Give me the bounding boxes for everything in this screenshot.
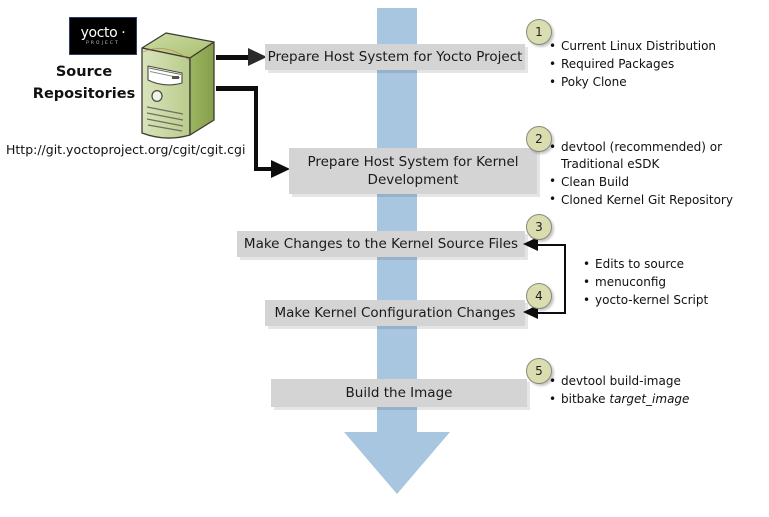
bullet-item: bitbake target_image — [549, 391, 764, 408]
bullet-item: menuconfig — [583, 274, 763, 291]
step-2-bullets: devtool (recommended) or Traditional eSD… — [549, 139, 764, 210]
source-label-line2: Repositories — [24, 84, 144, 106]
step-box-2[interactable]: Prepare Host System for Kernel Developme… — [289, 148, 537, 194]
server-icon — [136, 30, 216, 142]
bullet-item: yocto-kernel Script — [583, 292, 763, 309]
bullet-list-1: Current Linux DistributionRequired Packa… — [549, 38, 764, 91]
step-box-1[interactable]: Prepare Host System for Yocto Project — [265, 44, 525, 70]
feedback-bracket-bottom — [536, 312, 564, 314]
bullet-text: Cloned Kernel Git Repository — [561, 193, 733, 207]
step-3-4-bullets: Edits to sourcemenuconfigyocto-kernel Sc… — [583, 256, 763, 310]
bullet-text: menuconfig — [595, 275, 666, 289]
bullet-item: Edits to source — [583, 256, 763, 273]
flow-arrow-head — [344, 432, 450, 494]
step-box-3[interactable]: Make Changes to the Kernel Source Files — [237, 231, 525, 257]
bullet-item: devtool (recommended) or Traditional eSD… — [549, 139, 764, 172]
bullet-item: Required Packages — [549, 56, 764, 73]
logo-subtext: PROJECT — [86, 42, 120, 46]
feedback-bracket-vertical — [564, 244, 566, 314]
step-number-4: 4 — [526, 283, 552, 309]
step-1-bullets: Current Linux DistributionRequired Packa… — [549, 38, 764, 92]
step-box-5[interactable]: Build the Image — [271, 379, 527, 407]
source-repositories-label: Source Repositories — [24, 62, 144, 106]
flow-arrow-shaft — [377, 8, 417, 432]
bullet-text: devtool (recommended) or Traditional eSD… — [561, 140, 722, 171]
bullet-text: Edits to source — [595, 257, 684, 271]
step-5-bullets: devtool build-imagebitbake target_image — [549, 373, 764, 409]
bullet-list-5: devtool build-imagebitbake target_image — [549, 373, 764, 408]
bullet-text: bitbake — [561, 392, 609, 406]
step-box-4[interactable]: Make Kernel Configuration Changes — [265, 300, 525, 326]
step-number-2: 2 — [526, 126, 552, 152]
bullet-text: Required Packages — [561, 57, 674, 71]
source-repository-url: Http://git.yoctoproject.org/cgit/cgit.cg… — [6, 142, 236, 157]
arrowhead-to-step2 — [271, 160, 290, 178]
connector-server-to-step1 — [216, 55, 250, 60]
yocto-project-logo: yocto · PROJECT — [69, 17, 137, 55]
source-label-line1: Source — [24, 62, 144, 84]
bullet-item: devtool build-image — [549, 373, 764, 390]
bullet-text: devtool build-image — [561, 374, 681, 388]
bullet-text-emphasis: target_image — [609, 392, 689, 406]
bullet-list-2: devtool (recommended) or Traditional eSD… — [549, 139, 764, 208]
logo-wordmark: yocto · — [81, 26, 126, 40]
connector-server-to-step2-horizontal — [216, 86, 258, 91]
bullet-text: Current Linux Distribution — [561, 39, 716, 53]
step-number-1: 1 — [526, 19, 552, 45]
bullet-item: Current Linux Distribution — [549, 38, 764, 55]
bullet-item: Cloned Kernel Git Repository — [549, 192, 764, 209]
connector-server-to-step2-vertical — [254, 86, 259, 171]
bullet-text: Clean Build — [561, 175, 629, 189]
bullet-item: Poky Clone — [549, 74, 764, 91]
bullet-list-3-4: Edits to sourcemenuconfigyocto-kernel Sc… — [583, 256, 763, 309]
step-number-3: 3 — [526, 214, 552, 240]
diagram-canvas: yocto · PROJECT Source Repositories Http… — [0, 0, 769, 517]
step-number-5: 5 — [526, 358, 552, 384]
feedback-bracket-top — [536, 244, 564, 246]
bullet-item: Clean Build — [549, 174, 764, 191]
bullet-text: Poky Clone — [561, 75, 627, 89]
bullet-text: yocto-kernel Script — [595, 293, 708, 307]
